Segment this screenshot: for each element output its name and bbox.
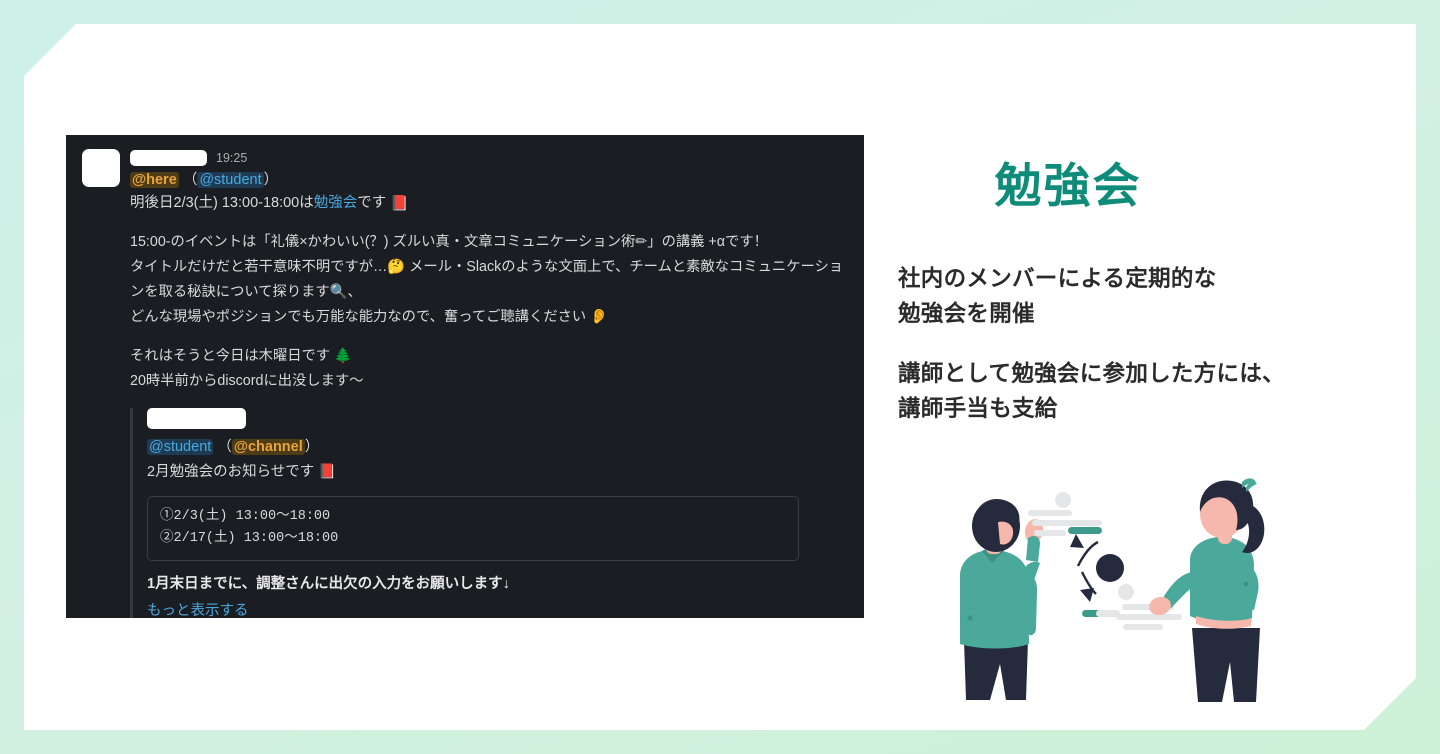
right-column: 勉強会 社内のメンバーによる定期的な勉強会を開催 講師として勉強会に参加した方に… [898, 160, 1378, 427]
mention-student[interactable]: @student [147, 439, 213, 455]
headline-line: 明後日2/3(土) 13:00-18:00は勉強会です 📕 [130, 191, 848, 216]
headline-after: です [357, 195, 390, 211]
show-more-link[interactable]: もっと表示する [147, 600, 848, 618]
headline-before: 明後日2/3(土) 13:00-18:00は [130, 195, 314, 211]
page-title: 勉強会 [898, 160, 1378, 212]
mentions-line: @here （@student） [130, 169, 848, 191]
paren-close: ） [264, 172, 279, 188]
slack-message-screenshot: 19:25 @here （@student） 明後日2/3(土) 13:00-1… [66, 135, 864, 618]
mention-student[interactable]: @student [197, 172, 263, 188]
paren-open: （ [183, 172, 198, 188]
quoted-author-name-redacted [147, 408, 246, 429]
illustration-exchange-arrows [1078, 542, 1098, 594]
author-name-redacted [130, 150, 207, 166]
description-paragraph-2: 講師として勉強会に参加した方には、講師手当も支給 [898, 357, 1378, 427]
headline-highlight: 勉強会 [314, 195, 358, 211]
code-line-1: ①2/3(土) 13:00〜18:00 [160, 506, 786, 528]
mention-here[interactable]: @here [130, 172, 179, 188]
book-icon: 📕 [390, 195, 409, 212]
quoted-mentions-line: @student （@channel） [147, 436, 848, 458]
illustration-person-right [1147, 478, 1264, 702]
illustration-two-people-exchanging-data [930, 468, 1290, 708]
mention-channel[interactable]: @channel [232, 439, 305, 455]
paragraph-2: タイトルだけだと若干意味不明ですが…🤔 メール・Slackのような文面上で、チー… [130, 255, 848, 305]
paragraph-1: 15:00-のイベントは「礼儀×かわいい(？) ズルい真・文章コミュニケーション… [130, 230, 848, 255]
paragraph-5: 20時半前からdiscordに出没します〜 [130, 369, 848, 394]
description-block: 社内のメンバーによる定期的な勉強会を開催 講師として勉強会に参加した方には、講師… [898, 262, 1378, 428]
deadline-notice: 1月末日までに、調整さんに出欠の入力をお願いします↓ [147, 573, 848, 595]
message-timestamp: 19:25 [216, 150, 247, 166]
illustration-person-left [960, 499, 1045, 700]
code-line-2: ②2/17(土) 13:00〜18:00 [160, 528, 786, 550]
message-body: 15:00-のイベントは「礼儀×かわいい(？) ズルい真・文章コミュニケーション… [82, 230, 848, 394]
slack-root-message: 19:25 @here （@student） 明後日2/3(土) 13:00-1… [66, 135, 864, 618]
message-header: 19:25 @here （@student） 明後日2/3(土) 13:00-1… [82, 149, 848, 216]
quoted-message: @student （@channel） 2月勉強会のお知らせです 📕 ①2/3(… [130, 408, 848, 618]
paragraph-3: どんな現場やポジションでも万能な能力なので、奮ってご聴講ください 👂 [130, 305, 848, 330]
quoted-headline: 2月勉強会のお知らせです 📕 [147, 460, 848, 484]
paragraph-4: それはそうと今日は木曜日です 🌲 [130, 344, 848, 369]
code-block: ①2/3(土) 13:00〜18:00 ②2/17(土) 13:00〜18:00 [147, 496, 799, 561]
author-line: 19:25 [130, 150, 848, 166]
header-right: 19:25 @here （@student） 明後日2/3(土) 13:00-1… [130, 149, 848, 216]
paren-close: ） [305, 439, 320, 455]
description-paragraph-1: 社内のメンバーによる定期的な勉強会を開催 [898, 262, 1378, 332]
avatar [82, 149, 120, 187]
paren-open: （ [217, 439, 232, 455]
